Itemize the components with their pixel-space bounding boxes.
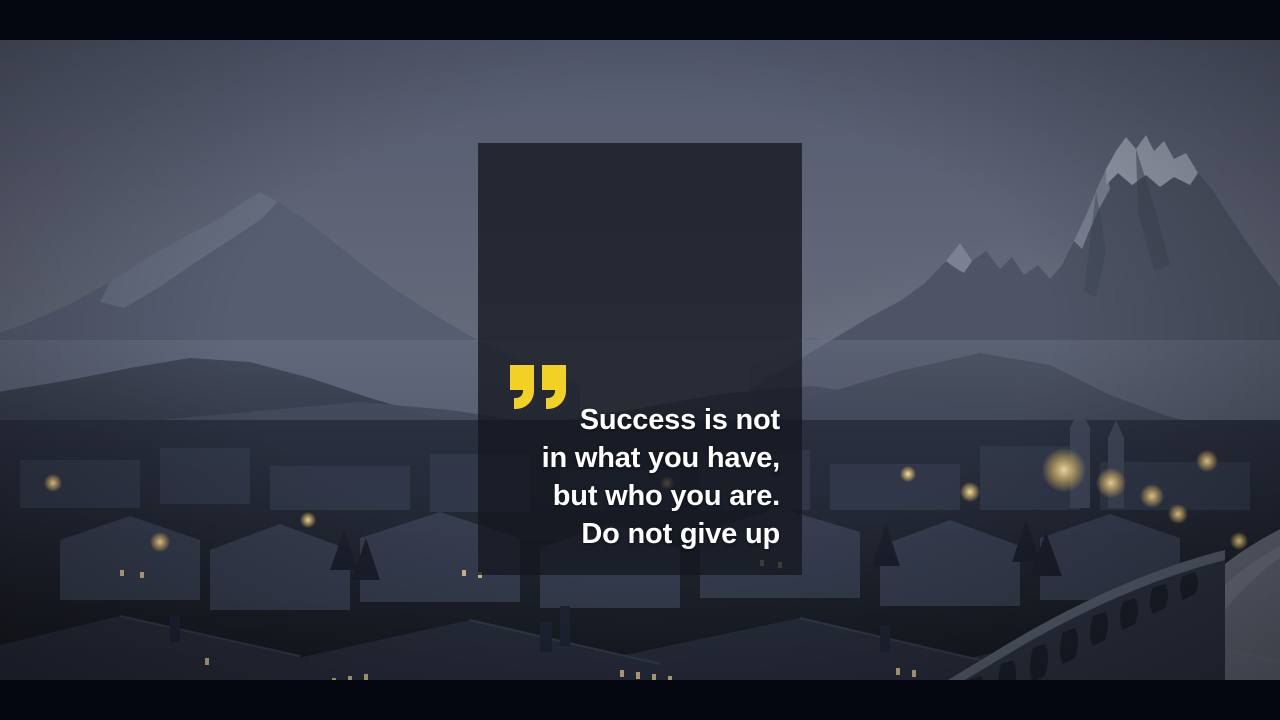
quote-body: Success is not in what you have, but who… <box>478 401 780 553</box>
top-letterbox-bar <box>0 0 1280 40</box>
quote-text: Success is not in what you have, but who… <box>478 401 780 553</box>
quote-card: Success is not in what you have, but who… <box>478 143 802 575</box>
viaduct <box>895 550 1225 680</box>
video-frame: Success is not in what you have, but who… <box>0 0 1280 720</box>
bottom-letterbox-bar <box>0 680 1280 720</box>
quotation-mark-icon <box>508 363 570 411</box>
